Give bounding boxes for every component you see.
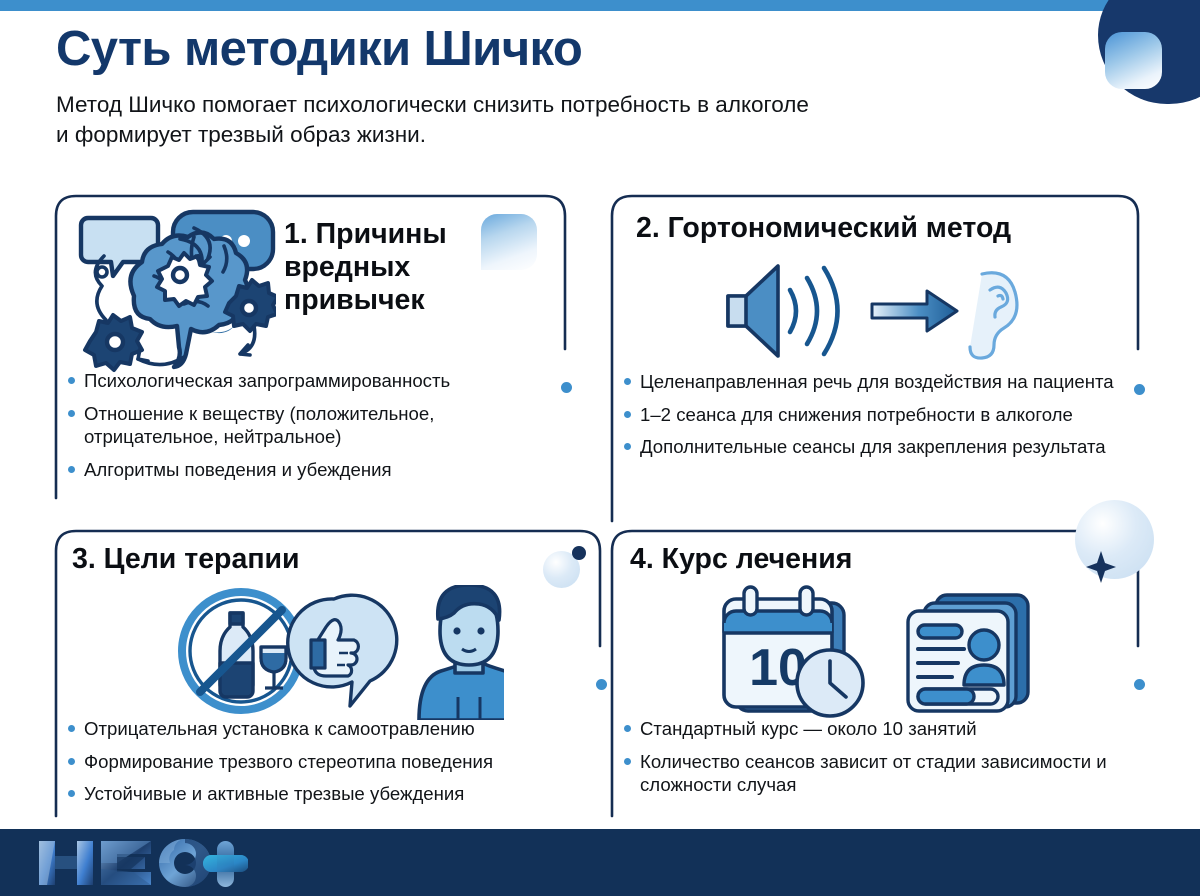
list-item-text: Количество сеансов зависит от стадии зав… [640, 750, 1136, 797]
card-decor-dot [1134, 384, 1145, 395]
bullet-dot-icon [68, 790, 75, 797]
top-accent-bar [0, 0, 1200, 11]
list-item: Алгоритмы поведения и убеждения [68, 458, 560, 482]
list-item: Целенаправленная речь для воздействия на… [624, 370, 1136, 394]
card-decor-dot [596, 679, 607, 690]
decorative-light-square [1105, 32, 1162, 89]
list-item: Количество сеансов зависит от стадии зав… [624, 750, 1136, 797]
sparkle-icon [1086, 551, 1116, 588]
list-item: Устойчивые и активные трезвые убеждения [68, 782, 600, 806]
page-title: Суть методики Шичко [56, 22, 1066, 77]
card-title-wrap: 3. Цели терапии [72, 543, 472, 576]
bullet-dot-icon [624, 758, 631, 765]
list-item-text: Алгоритмы поведения и убеждения [84, 458, 560, 482]
list-item-text: Формирование трезвого стереотипа поведен… [84, 750, 600, 774]
list-item: Дополнительные сеансы для закрепления ре… [624, 435, 1136, 459]
no-alcohol-thumbsup-person-icon [174, 585, 504, 725]
bullet-dot-icon [624, 725, 631, 732]
list-item-text: Целенаправленная речь для воздействия на… [640, 370, 1136, 394]
list-item: Отношение к веществу (положительное, отр… [68, 402, 560, 449]
card-bullet-list: Отрицательная установка к самоотравлению… [68, 717, 600, 815]
calendar-clock-cards-icon: 10 [712, 585, 1032, 730]
subtitle-line-1: Метод Шичко помогает психологически сниз… [56, 90, 986, 120]
bullet-dot-icon [68, 758, 75, 765]
list-item-text: Дополнительные сеансы для закрепления ре… [640, 435, 1136, 459]
card-causes: 1. Причины вредных привычек Психологичес… [56, 194, 566, 499]
bullet-dot-icon [68, 410, 75, 417]
list-item: 1–2 сеанса для снижения потребности в ал… [624, 403, 1136, 427]
card-decor-dot [561, 382, 572, 393]
bullet-dot-icon [68, 377, 75, 384]
list-item-text: Отношение к веществу (положительное, отр… [84, 402, 560, 449]
card-decor-dot-navy [572, 546, 586, 560]
card-decor-square [481, 214, 537, 270]
list-item-text: Устойчивые и активные трезвые убеждения [84, 782, 600, 806]
bullet-dot-icon [68, 466, 75, 473]
card-treatment-course: 4. Курс лечения 10 [612, 529, 1139, 817]
card-bullet-list: Стандартный курс — около 10 занятий Коли… [624, 717, 1136, 806]
card-title: 3. Цели терапии [72, 543, 300, 576]
list-item: Формирование трезвого стереотипа поведен… [68, 750, 600, 774]
page-subtitle: Метод Шичко помогает психологически сниз… [56, 90, 986, 150]
card-title-wrap: 2. Гортономический метод [636, 212, 1126, 245]
bullet-dot-icon [624, 411, 631, 418]
card-therapy-goals: 3. Цели терапии [56, 529, 601, 817]
card-gortonomic-method: 2. Гортономический метод [612, 194, 1139, 522]
bullet-dot-icon [624, 443, 631, 450]
footer [0, 829, 1200, 896]
card-decor-dot [1134, 679, 1145, 690]
card-bullet-list: Психологическая запрограммированность От… [68, 369, 560, 490]
list-item-text: 1–2 сеанса для снижения потребности в ал… [640, 403, 1136, 427]
speaker-arrow-ear-icon [712, 256, 1032, 371]
brand-logo [33, 835, 248, 896]
card-title-wrap: 4. Курс лечения [630, 543, 1050, 576]
bullet-dot-icon [68, 725, 75, 732]
card-bullet-list: Целенаправленная речь для воздействия на… [624, 370, 1136, 468]
card-title: 4. Курс лечения [630, 543, 852, 576]
header: Суть методики Шичко Метод Шичко помогает… [56, 22, 1066, 150]
card-title: 2. Гортономический метод [636, 212, 1011, 245]
brain-gears-icon [76, 204, 276, 379]
bullet-dot-icon [624, 378, 631, 385]
subtitle-line-2: и формирует трезвый образ жизни. [56, 120, 986, 150]
